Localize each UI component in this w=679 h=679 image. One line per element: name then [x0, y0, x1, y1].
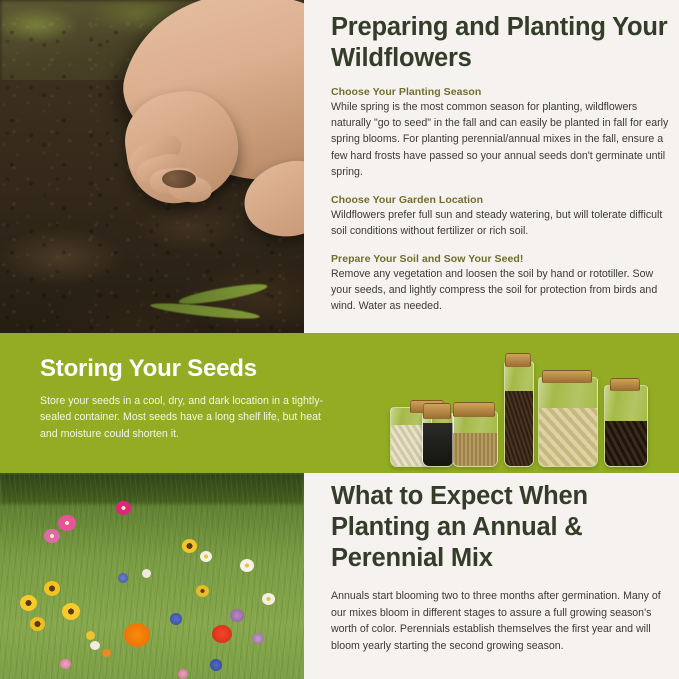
- hand-planting-seeds-image: [0, 0, 304, 333]
- seeds-in-hand: [162, 170, 196, 188]
- jar-black-seeds: [422, 413, 454, 467]
- page-title: Preparing and Planting Your Wildflowers: [331, 0, 679, 74]
- flower-yellow-daisy: [20, 595, 37, 611]
- jar-dark-grain-tall: [504, 361, 534, 467]
- cork-lid-icon: [542, 370, 592, 383]
- jar-pumpkin-seeds: [538, 377, 598, 467]
- seed-jars-image: [386, 341, 672, 471]
- cork-lid-icon: [423, 403, 451, 419]
- section-storing-your-seeds: Storing Your Seeds Store your seeds in a…: [0, 333, 679, 473]
- flower-white-small: [90, 641, 100, 650]
- flower-yellow-daisy: [44, 581, 60, 596]
- flower-lavender-scabiosa: [252, 633, 264, 644]
- flower-pink-small: [60, 659, 71, 669]
- section-what-to-expect: What to Expect When Planting an Annual &…: [0, 473, 679, 679]
- flower-pink-cosmos: [58, 515, 76, 531]
- infographic-page: Preparing and Planting Your Wildflowers …: [0, 0, 679, 679]
- flower-white-small: [142, 569, 151, 578]
- subheading-prepare-soil: Prepare Your Soil and Sow Your Seed!: [331, 253, 679, 265]
- wildflower-meadow-image: [0, 473, 304, 679]
- cork-lid-icon: [453, 402, 495, 417]
- flower-white-daisy: [200, 551, 212, 562]
- flower-yellow-daisy: [196, 585, 209, 597]
- flower-lavender-scabiosa: [230, 609, 244, 622]
- flower-yellow-daisy: [30, 617, 45, 631]
- flower-orange-poppy: [124, 623, 150, 647]
- flower-yellow-small: [86, 631, 95, 640]
- flower-white-daisy: [262, 593, 275, 605]
- what-to-expect-text-column: What to Expect When Planting an Annual &…: [331, 473, 679, 679]
- cork-lid-icon: [610, 378, 640, 391]
- section-preparing-and-planting: Preparing and Planting Your Wildflowers …: [0, 0, 679, 333]
- flower-blue-cornflower: [170, 613, 182, 625]
- subheading-garden-location: Choose Your Garden Location: [331, 194, 679, 206]
- paragraph-garden-location: Wildflowers prefer full sun and steady w…: [331, 207, 679, 239]
- jar-tan-seeds: [452, 411, 498, 467]
- storing-heading: Storing Your Seeds: [40, 355, 340, 383]
- flower-yellow-daisy: [182, 539, 197, 553]
- flower-white-daisy: [240, 559, 254, 572]
- cork-lid-icon: [505, 353, 531, 367]
- paragraph-planting-season: While spring is the most common season f…: [331, 99, 679, 179]
- storing-text-column: Storing Your Seeds Store your seeds in a…: [40, 355, 340, 442]
- paragraph-prepare-soil: Remove any vegetation and loosen the soi…: [331, 266, 679, 314]
- flower-orange-small: [102, 649, 111, 657]
- jar-sunflower-seeds: [604, 385, 648, 467]
- flower-blue-cornflower: [118, 573, 128, 583]
- subheading-planting-season: Choose Your Planting Season: [331, 86, 679, 98]
- grass-texture: [0, 473, 304, 679]
- flower-yellow-daisy: [62, 603, 80, 620]
- flower-magenta-cosmos: [116, 501, 131, 515]
- flower-pink-cosmos: [44, 529, 60, 543]
- preparing-text-column: Preparing and Planting Your Wildflowers …: [331, 0, 679, 333]
- flower-pink-small: [178, 669, 188, 679]
- flower-red-poppy: [212, 625, 232, 643]
- storing-paragraph: Store your seeds in a cool, dry, and dar…: [40, 393, 340, 442]
- what-to-expect-paragraph: Annuals start blooming two to three mont…: [331, 588, 679, 654]
- flower-blue-cornflower: [210, 659, 222, 671]
- what-to-expect-heading: What to Expect When Planting an Annual &…: [331, 473, 679, 574]
